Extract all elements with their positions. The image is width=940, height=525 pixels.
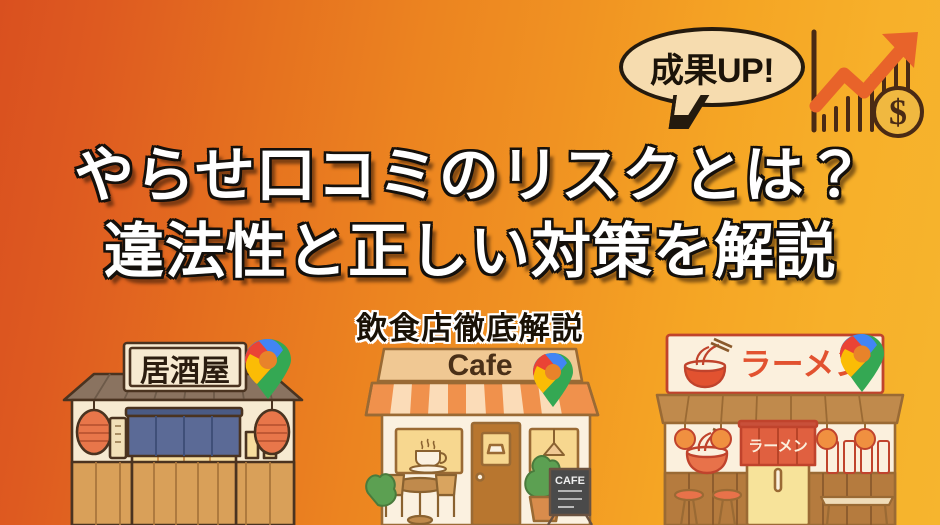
izakaya-sign-text: 居酒屋 [140, 355, 230, 388]
google-maps-pin-cafe [531, 352, 575, 408]
headline-line-2: 違法性と正しい対策を解説 [0, 214, 940, 290]
cafe-sign-text: Cafe [447, 349, 512, 382]
results-up-badge: 成果UP! [619, 27, 805, 127]
promo-banner: 成果UP! $ やらせ口コミのリスク [0, 0, 940, 525]
google-maps-pin-izakaya [243, 338, 293, 400]
headline-line-1: やらせ口コミのリスクとは？ [0, 138, 940, 214]
growth-chart-icon: $ [806, 28, 928, 140]
cafe-board-text: CAFE [555, 475, 585, 487]
svg-text:$: $ [889, 92, 907, 132]
google-maps-pin-ramen [838, 333, 886, 393]
headline: やらせ口コミのリスクとは？ 違法性と正しい対策を解説 [0, 138, 940, 290]
ramen-noren-text: ラーメン [748, 438, 807, 455]
badge-label: 成果UP! [619, 27, 805, 107]
